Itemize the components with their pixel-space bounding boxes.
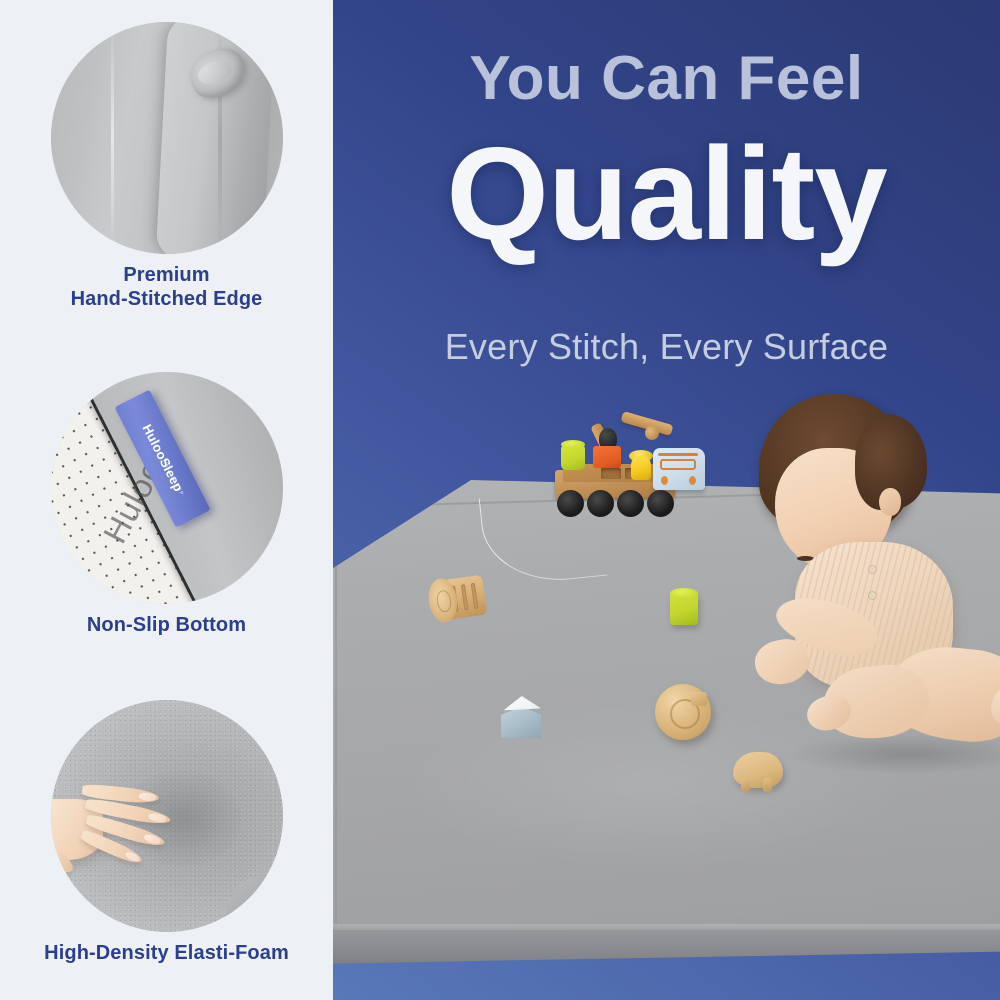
- animal-toy-leg: [741, 778, 750, 792]
- fingernail: [124, 851, 140, 863]
- feature-caption-high-density-foam: High-Density Elasti-Foam: [0, 941, 333, 965]
- feature-caption-line1: Non-Slip Bottom: [0, 613, 333, 637]
- triangle-block-face: [501, 706, 541, 738]
- feature-caption-line1: High-Density Elasti-Foam: [0, 941, 333, 965]
- green-spool-block: [561, 444, 585, 470]
- romper-button: [869, 566, 876, 573]
- fingernail: [148, 812, 168, 823]
- feature-caption-hand-stitched-edge: Premium Hand-Stitched Edge: [0, 263, 333, 312]
- feature-item-hand-stitched-edge: Premium Hand-Stitched Edge: [0, 22, 333, 312]
- crane-hook-cylinder: [631, 456, 651, 480]
- orange-block: [593, 446, 621, 468]
- infographic-canvas: Premium Hand-Stitched Edge HulooSl Huloo…: [0, 0, 1000, 1000]
- feature-caption-line1: Premium: [0, 263, 333, 287]
- truck-bed-cell: [601, 468, 621, 479]
- baby-ear: [879, 488, 901, 516]
- romper-button: [869, 592, 876, 599]
- headline-subtitle: Every Stitch, Every Surface: [333, 326, 1000, 368]
- hero-panel: You Can Feel Quality Every Stitch, Every…: [333, 0, 1000, 1000]
- cab-headlight: [689, 476, 696, 485]
- crane-joint: [645, 426, 659, 440]
- hand-pressing-foam: [51, 784, 186, 868]
- cab-window: [660, 459, 696, 470]
- green-cylinder-block: [670, 593, 698, 625]
- truck-wheel: [617, 490, 644, 517]
- product-photo: [333, 400, 1000, 1000]
- wooden-animal-toy: [733, 752, 783, 788]
- high-density-foam-image: [51, 700, 283, 932]
- fabric-seam-line: [111, 22, 114, 254]
- feature-item-non-slip-bottom: HulooSl HulooSleep WELL SLEEP Non-Slip B…: [0, 372, 333, 637]
- fingernail: [139, 792, 157, 801]
- feature-item-high-density-foam: High-Density Elasti-Foam: [0, 700, 333, 965]
- feature-caption-non-slip-bottom: Non-Slip Bottom: [0, 613, 333, 637]
- wooden-roller-toy: [426, 572, 494, 628]
- wooden-ball-knob: [691, 692, 707, 706]
- fingernail: [143, 833, 162, 846]
- blue-triangle-block: [501, 696, 541, 738]
- feature-caption-line2: Hand-Stitched Edge: [0, 287, 333, 311]
- feature-panel: Premium Hand-Stitched Edge HulooSl Huloo…: [0, 0, 333, 1000]
- truck-wheel: [647, 490, 674, 517]
- cab-stripe: [658, 453, 698, 456]
- animal-toy-leg: [763, 778, 772, 792]
- hand-stitched-edge-image: [51, 22, 283, 254]
- headline-line-2: Quality: [333, 128, 1000, 260]
- truck-cab: [653, 448, 705, 490]
- headline-line-1: You Can Feel: [333, 48, 1000, 110]
- non-slip-bottom-image: HulooSl HulooSleep WELL SLEEP: [51, 372, 283, 604]
- cab-headlight: [661, 476, 668, 485]
- play-mat-thickness-edge: [333, 930, 1000, 964]
